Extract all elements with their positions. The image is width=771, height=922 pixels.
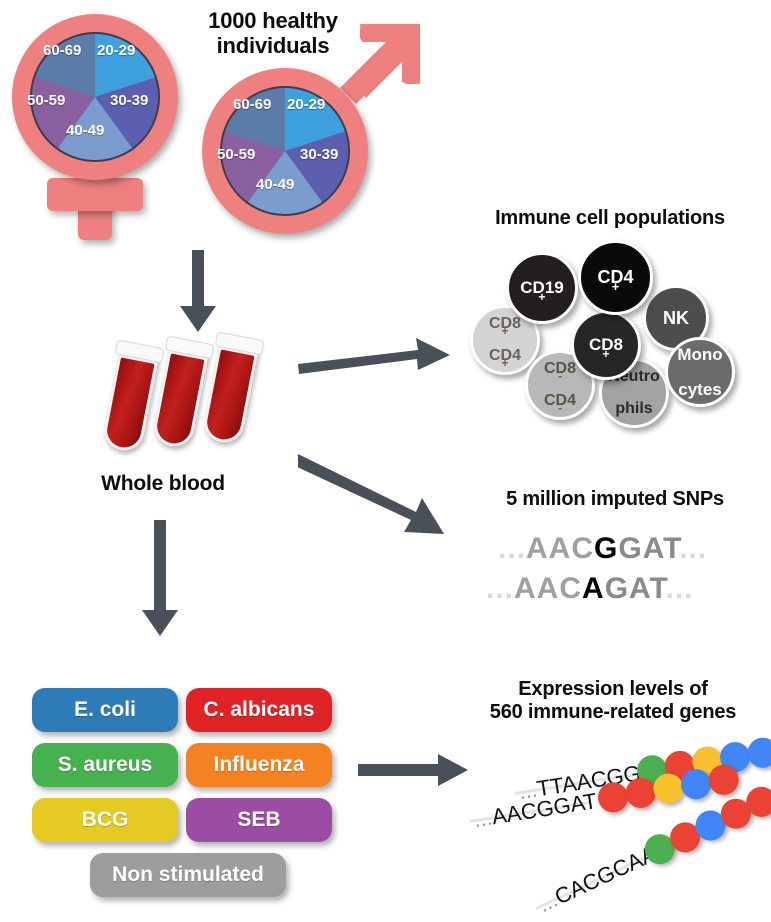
cell-label: CD8+ CD4+ xyxy=(489,316,521,365)
snp-suffix: ... xyxy=(665,572,693,605)
expression-heading-line2: 560 immune-related genes xyxy=(455,701,771,724)
snp-left: AAC xyxy=(514,572,582,605)
cell-label-line2: cytes xyxy=(677,381,722,398)
expression-heading-line1: Expression levels of xyxy=(455,678,771,701)
stimulus-chip-non-stimulated[interactable]: Non stimulated xyxy=(90,853,286,897)
immune-cell-monocytes: Mono cytes xyxy=(665,337,735,407)
figure-canvas: 1000 healthy individuals 20-29 30-39 40-… xyxy=(0,0,771,922)
cell-label: CD19+ xyxy=(520,279,563,296)
snp-suffix: ... xyxy=(679,532,707,565)
snp-sequence-row-2: ...AACAGAT... xyxy=(486,572,693,606)
immune-cell-cd8pos: CD8+ xyxy=(571,310,641,380)
stimulus-chip-e-coli[interactable]: E. coli xyxy=(32,688,178,732)
arrow-stimuli-to-expression xyxy=(358,752,470,788)
cell-label-line2: phils xyxy=(608,401,660,417)
snp-allele: G xyxy=(594,532,618,565)
snp-prefix: ... xyxy=(486,572,514,605)
snp-right: GAT xyxy=(605,572,666,605)
cell-label: CD8- CD4- xyxy=(544,361,576,410)
stimulus-chip-s-aureus[interactable]: S. aureus xyxy=(32,743,178,787)
immune-cell-cd4pos: CD4+ xyxy=(578,240,653,315)
snp-left: AAC xyxy=(526,532,594,565)
cell-label: CD8+ xyxy=(589,336,623,353)
stimulus-chip-influenza[interactable]: Influenza xyxy=(186,743,332,787)
cell-label-line1: Mono xyxy=(677,346,722,363)
immune-cell-cd19pos: CD19+ xyxy=(506,252,578,324)
cell-label: Mono cytes xyxy=(677,346,722,398)
snp-sequence-row-1: ...AACGGAT... xyxy=(498,532,707,566)
snps-heading: 5 million imputed SNPs xyxy=(470,488,760,511)
snp-prefix: ... xyxy=(498,532,526,565)
snp-allele: A xyxy=(582,572,605,605)
stimulus-chip-bcg[interactable]: BCG xyxy=(32,798,178,842)
cell-label-line1: NK xyxy=(663,309,689,327)
cell-label: CD4+ xyxy=(597,268,633,286)
expression-heading: Expression levels of 560 immune-related … xyxy=(455,678,771,724)
stimulus-chip-c-albicans[interactable]: C. albicans xyxy=(186,688,332,732)
cell-label: NK xyxy=(663,309,689,327)
snp-right: GAT xyxy=(618,532,679,565)
stimulus-chip-seb[interactable]: SEB xyxy=(186,798,332,842)
